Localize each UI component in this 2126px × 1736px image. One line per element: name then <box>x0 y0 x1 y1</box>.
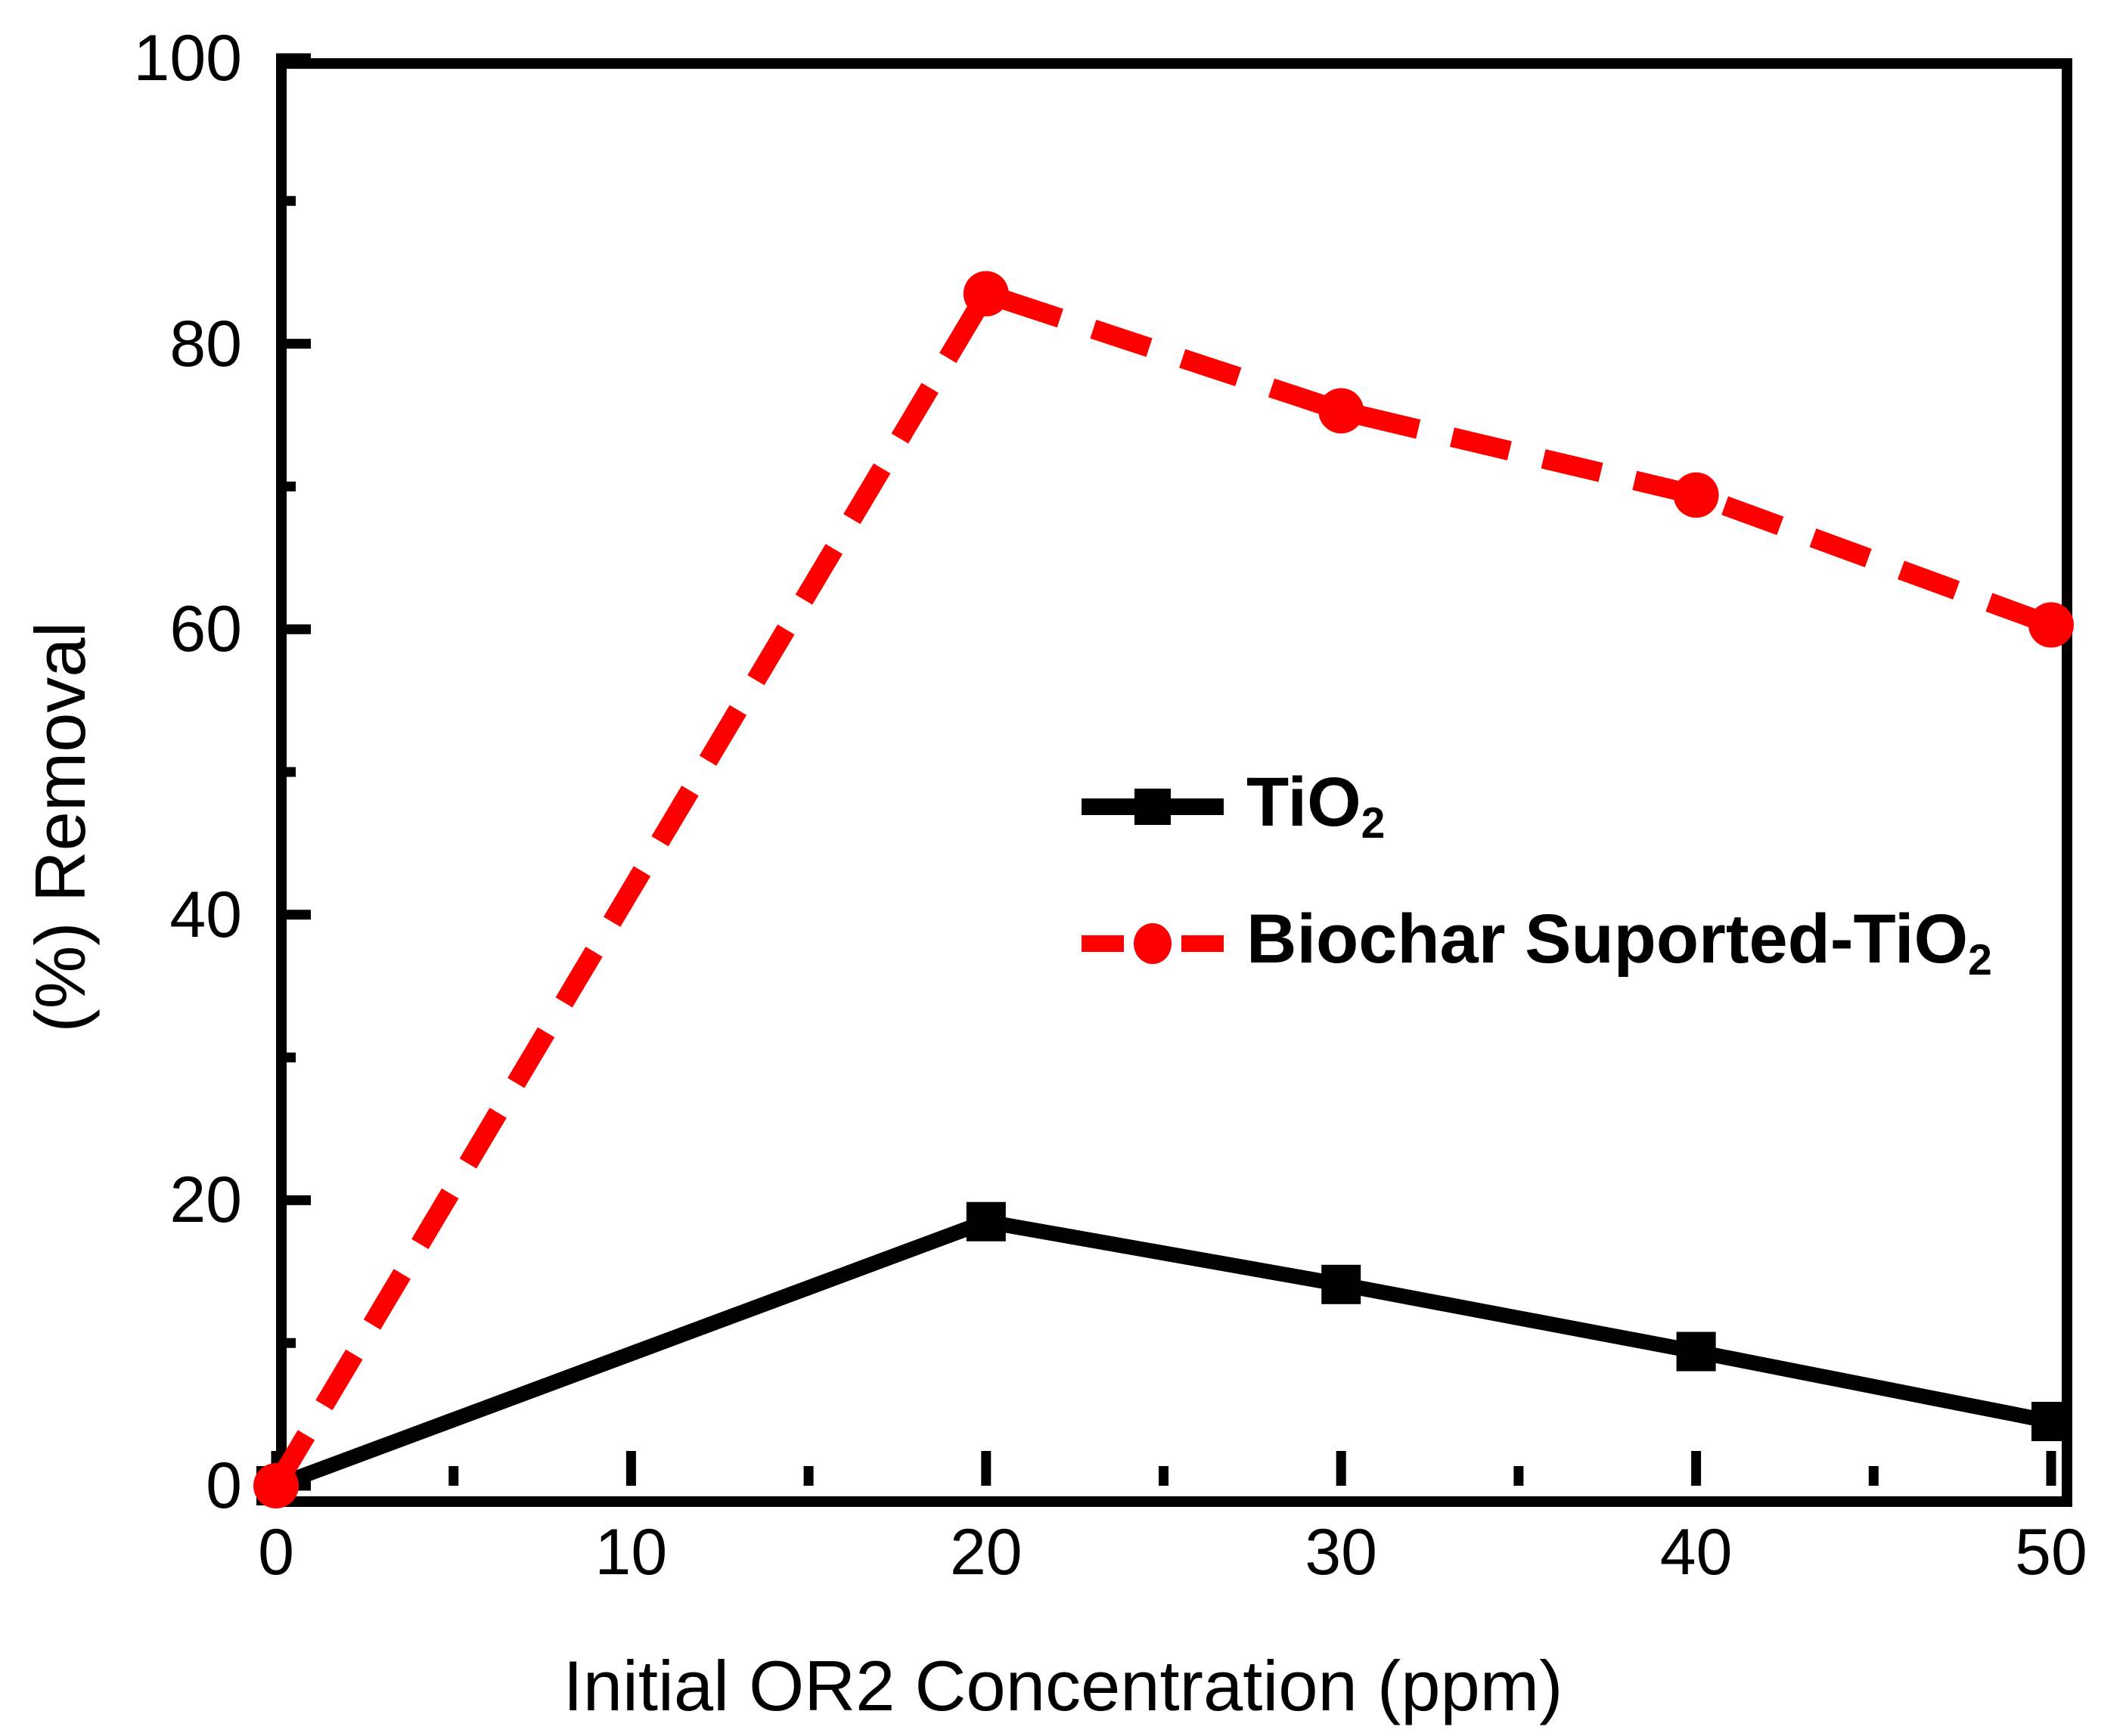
x-tick-label: 20 <box>950 1520 1023 1585</box>
x-tick-label: 30 <box>1305 1520 1377 1585</box>
legend-swatch-biochar-supported-tio2 <box>1082 923 1224 964</box>
x-tick-label: 40 <box>1660 1520 1733 1585</box>
chart-legend: TiO2 Biochar Suported-TiO2 <box>1082 767 1992 982</box>
y-tick-label: 60 <box>106 597 242 662</box>
legend-item-tio2[interactable]: TiO2 <box>1082 767 1992 845</box>
x-tick-label: 0 <box>258 1520 294 1585</box>
x-axis-title: Initial OR2 Concentration (ppm) <box>0 1645 2126 1727</box>
y-tick-label: 100 <box>106 26 242 91</box>
legend-item-biochar-supported-tio2[interactable]: Biochar Suported-TiO2 <box>1082 904 1992 982</box>
y-tick-label: 0 <box>106 1453 242 1518</box>
legend-label-tio2: TiO2 <box>1246 767 1385 845</box>
y-tick-label: 20 <box>106 1167 242 1232</box>
y-axis-title: (%) Removal <box>0 0 121 1736</box>
x-tick-label: 10 <box>595 1520 668 1585</box>
x-tick-label: 50 <box>2015 1520 2087 1585</box>
legend-swatch-tio2 <box>1082 786 1224 827</box>
chart-figure: 020406080100 01020304050 Initial OR2 Con… <box>0 0 2126 1736</box>
y-tick-label: 40 <box>106 882 242 947</box>
legend-label-biochar-supported-tio2: Biochar Suported-TiO2 <box>1246 904 1992 982</box>
y-axis-title-text: (%) Removal <box>20 622 101 1032</box>
y-tick-label: 80 <box>106 312 242 377</box>
